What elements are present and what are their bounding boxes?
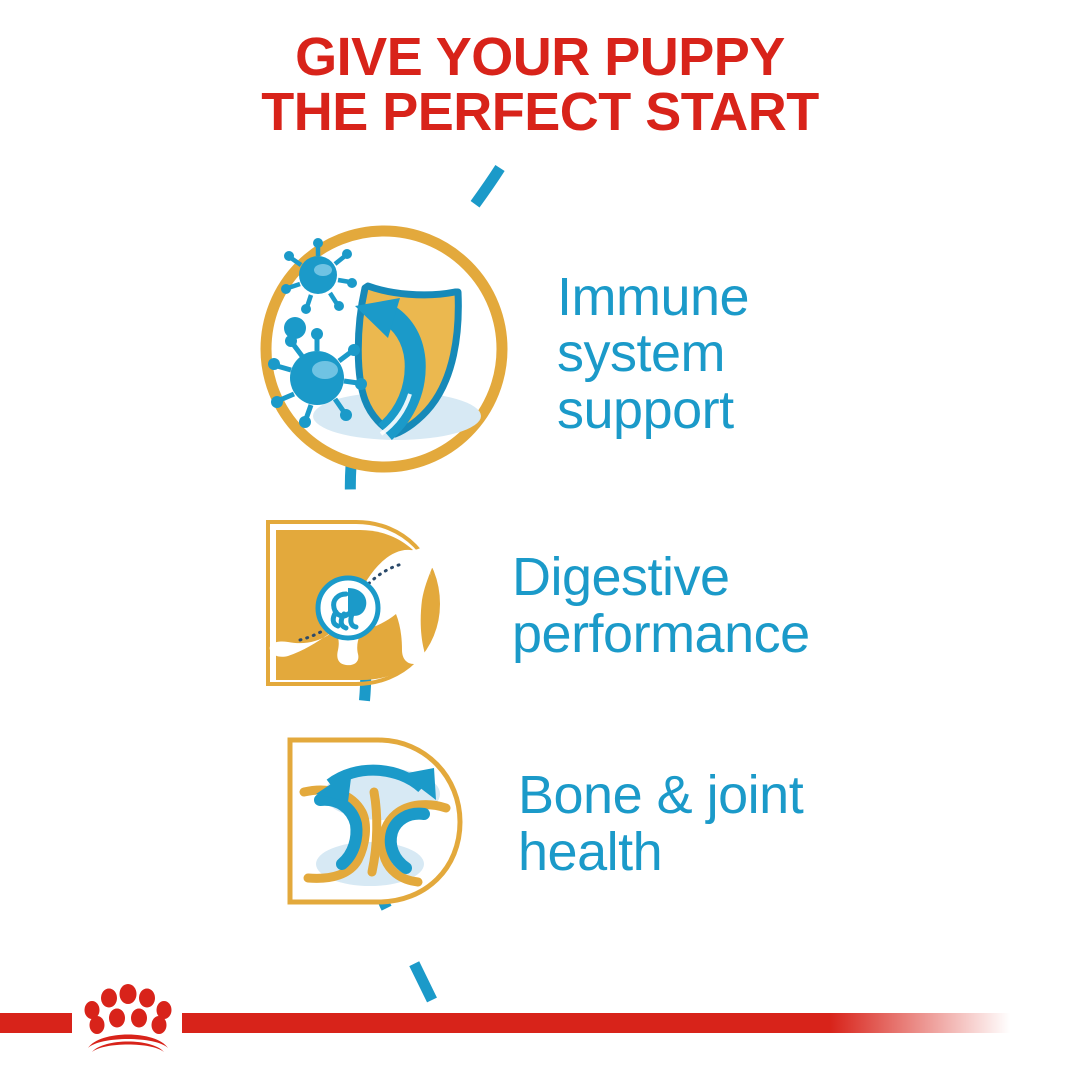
benefit-row-digestive: Digestive performance [252, 508, 810, 703]
page-title: GIVE YOUR PUPPY THE PERFECT START [0, 30, 1080, 140]
benefit-label-immune: Immune system support [557, 269, 749, 437]
benefit-row-immune: Immune system support [255, 218, 749, 485]
headline-line-1: GIVE YOUR PUPPY [0, 30, 1080, 85]
benefit-label-bone: Bone & joint health [518, 767, 803, 879]
royal-canin-crown-logo [78, 976, 178, 1052]
benefit-row-bone: Bone & joint health [278, 728, 803, 919]
promo-canvas: GIVE YOUR PUPPY THE PERFECT START [0, 0, 1080, 1080]
digestive-dog-icon [252, 508, 452, 703]
headline-line-2: THE PERFECT START [0, 85, 1080, 140]
benefit-label-digestive: Digestive performance [512, 549, 810, 661]
bone-joint-icon [278, 728, 474, 919]
stomach-icon [318, 578, 378, 638]
immune-shield-icon [255, 218, 513, 485]
